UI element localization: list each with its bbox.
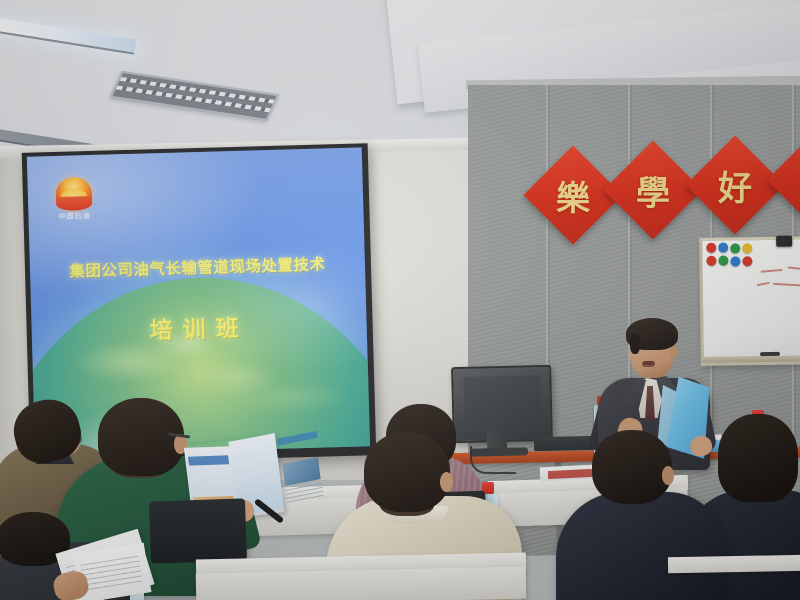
- attendee-dark-suit-center-body: [556, 492, 724, 600]
- whiteboard-handwriting: [755, 265, 800, 300]
- placard-char-partial: [780, 148, 800, 212]
- attendee-dark-suit-center-head: [592, 430, 672, 504]
- attendee-dark-suit-center: [556, 430, 726, 600]
- wall-placard-xue: 學: [604, 141, 703, 240]
- presenter-mouth: [642, 361, 655, 367]
- table-foreground-front: [196, 567, 527, 600]
- attendee-dark-suit-center-ear: [662, 466, 674, 485]
- whiteboard-marker-icon: [760, 352, 780, 356]
- presenter-ear: [670, 346, 678, 358]
- binder-clip-icon: [776, 236, 792, 247]
- table-bottom-right: [668, 555, 800, 573]
- attendee-cream-jacket-ear: [440, 472, 453, 492]
- chair-left: [149, 498, 247, 563]
- magnet-cluster: [706, 242, 760, 269]
- attendee-cream-jacket-head: [364, 432, 450, 512]
- placard-char-hao: 好: [700, 150, 770, 220]
- logo-sun-emblem: [55, 177, 92, 211]
- presenter-hair: [626, 318, 678, 350]
- photo-scene: 中国石油 集团公司油气长输管道现场处置技术 培训班 樂 學 好: [0, 0, 800, 600]
- wall-placard-hao: 好: [686, 136, 785, 235]
- logo-caption: 中国石油: [54, 211, 94, 222]
- placard-char-le: 樂: [538, 160, 608, 230]
- placard-char-xue: 學: [618, 155, 688, 225]
- attendee-dark-suit-right-head: [718, 414, 798, 502]
- petrochina-logo-icon: 中国石油: [53, 177, 94, 222]
- attendee-green-sweater-head: [98, 398, 184, 476]
- brochure-header-band: [188, 455, 229, 465]
